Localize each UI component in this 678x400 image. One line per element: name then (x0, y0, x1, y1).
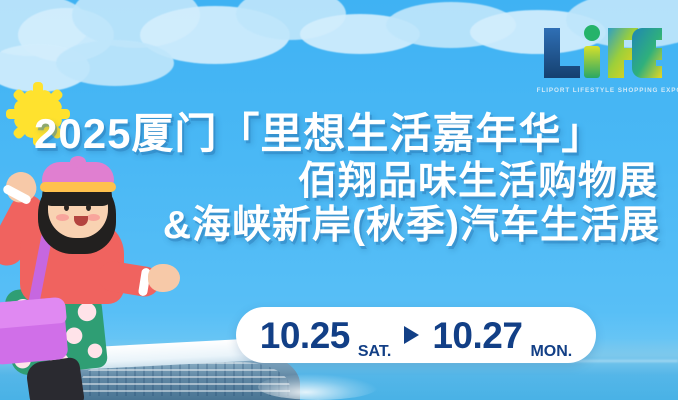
arrow-right-icon (404, 326, 419, 344)
date-range-pill: 10.25 SAT. 10.27 MON. (236, 307, 596, 363)
end-day-of-week: MON. (530, 344, 572, 363)
promo-banner: FLIPORT LIFESTYLE SHOPPING EXPO 2025厦门「里… (0, 0, 678, 400)
life-logo: FLIPORT LIFESTYLE SHOPPING EXPO (538, 22, 670, 94)
start-day-of-week: SAT. (358, 344, 391, 363)
logo-subtitle: FLIPORT LIFESTYLE SHOPPING EXPO (537, 87, 672, 94)
headline-line-1: 2025厦门「里想生活嘉年华」 (0, 112, 664, 157)
life-logo-mark (538, 22, 664, 84)
start-date: 10.25 (260, 317, 350, 354)
end-date: 10.27 (432, 317, 522, 354)
character-illustration (0, 168, 184, 400)
